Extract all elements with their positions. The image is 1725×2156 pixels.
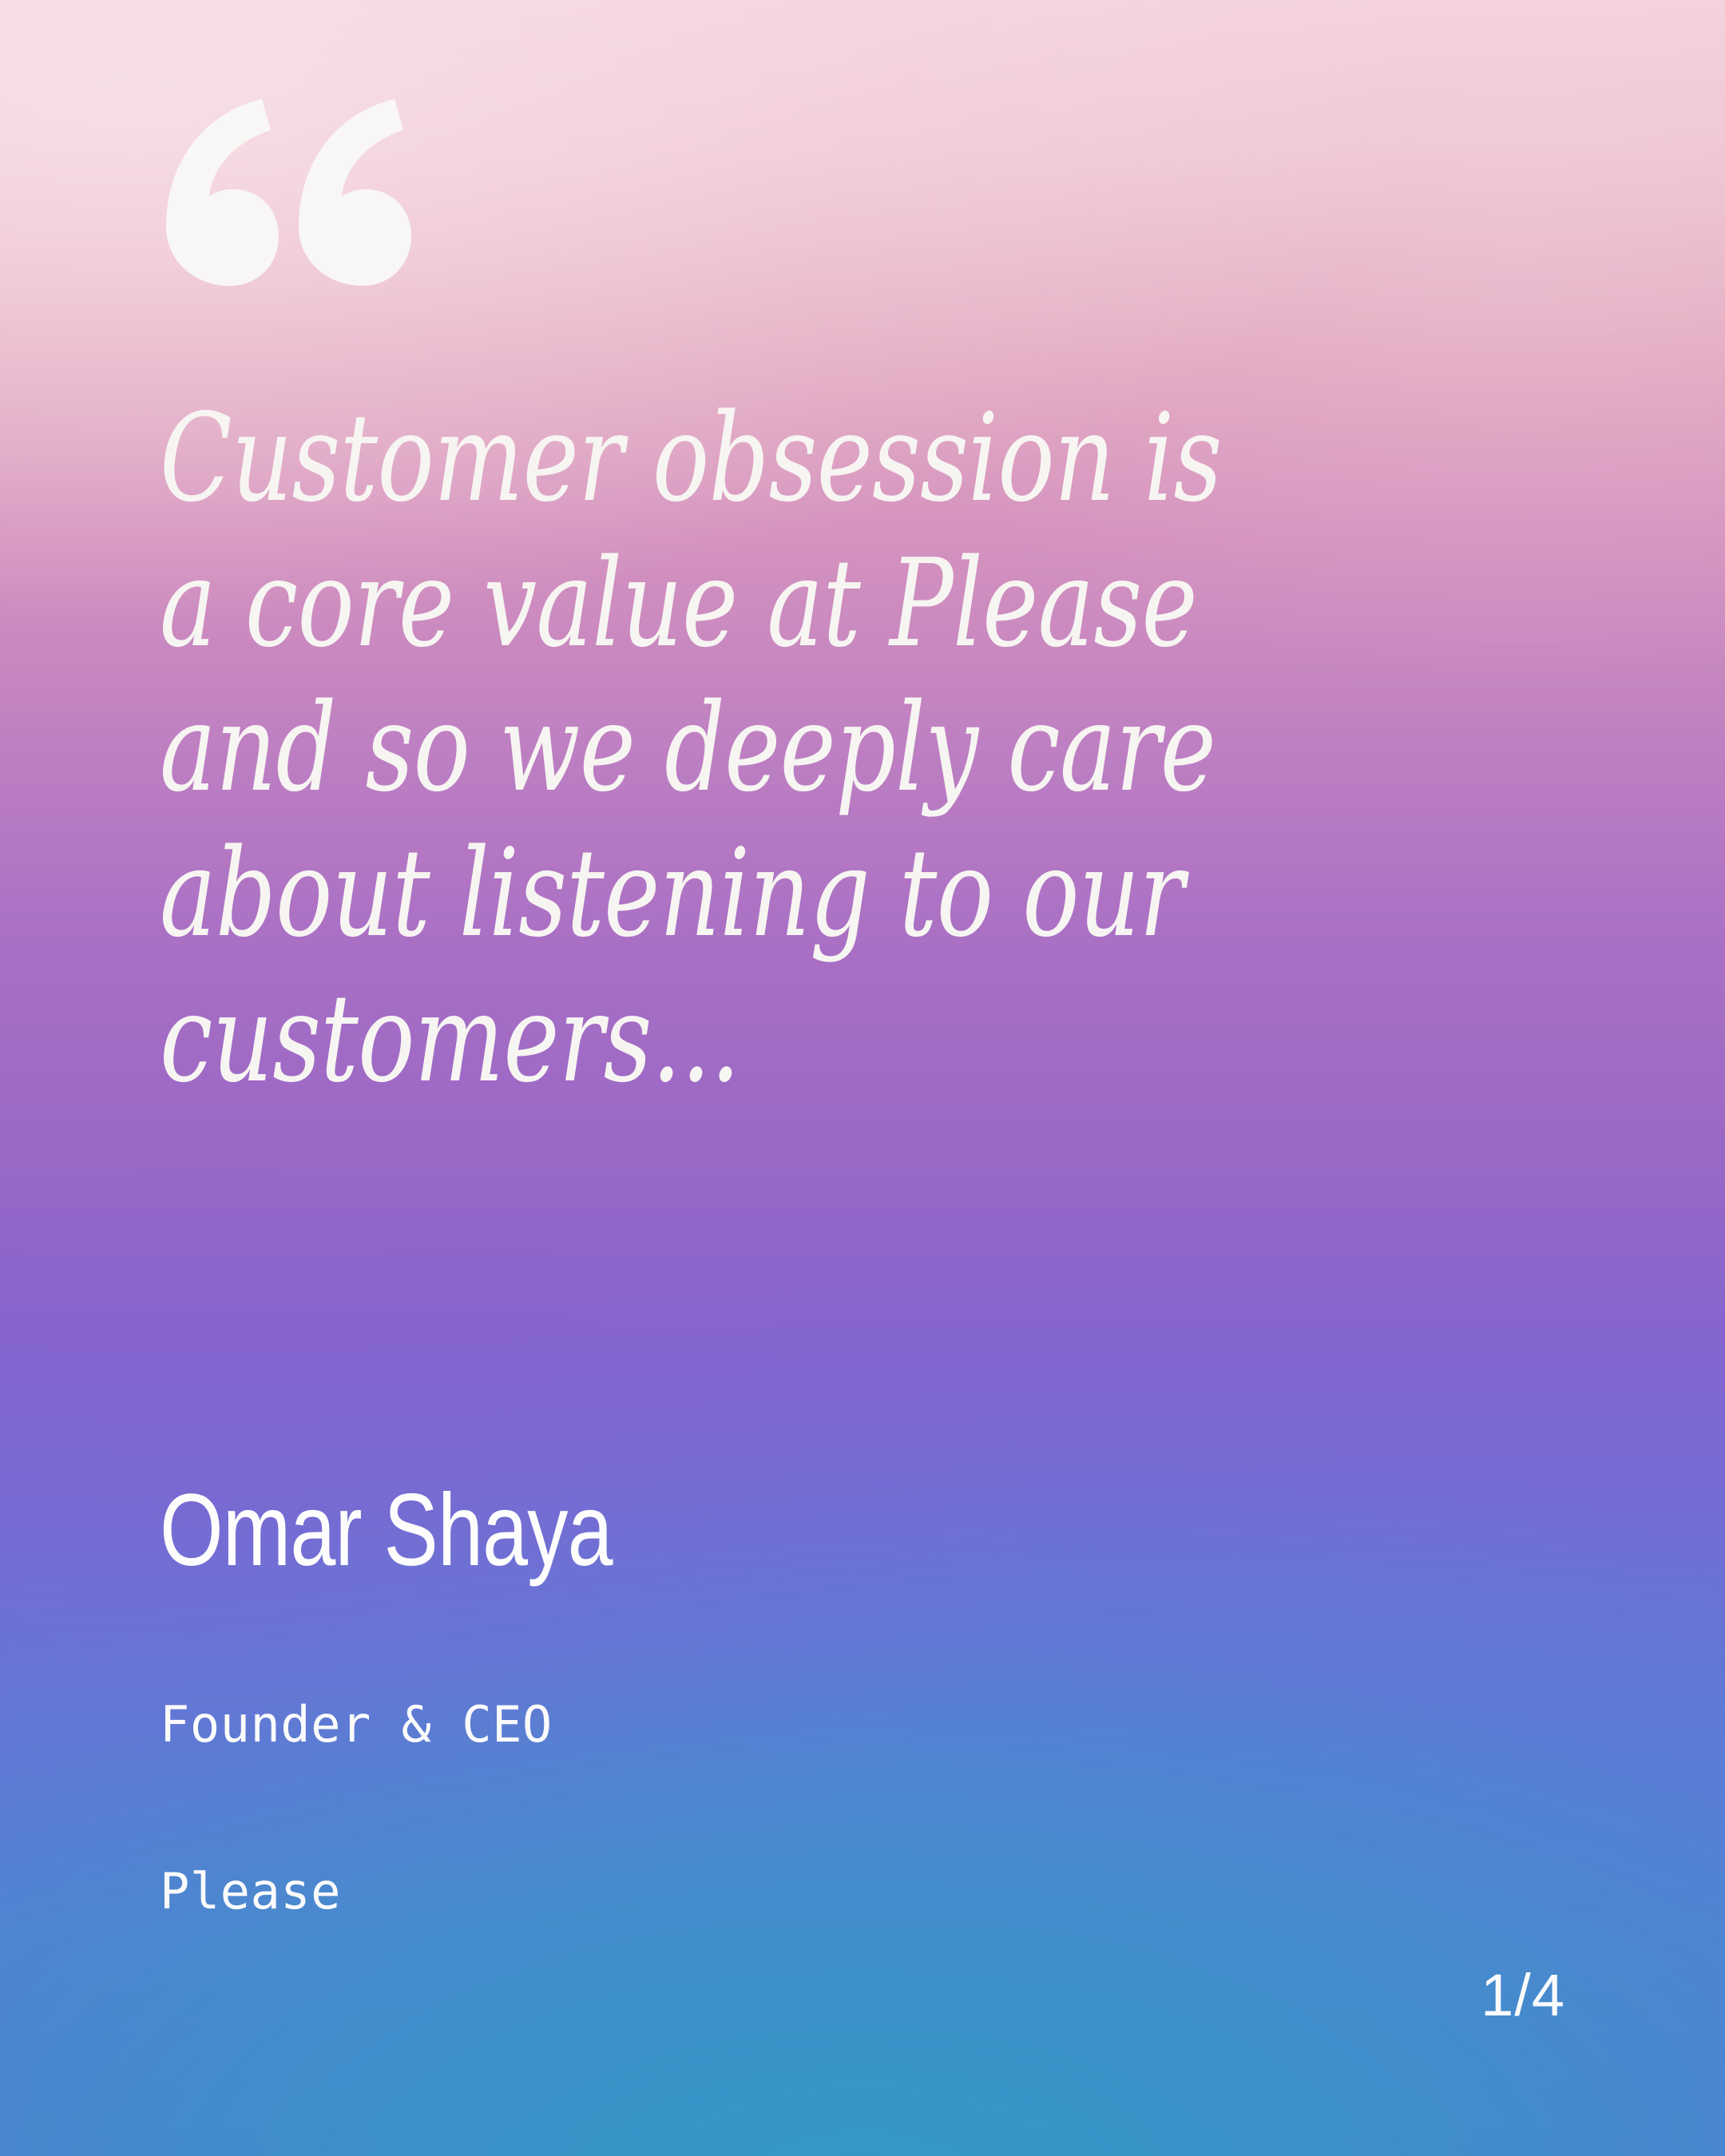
attribution-meta: Founder & CEO Please bbox=[160, 1587, 553, 2031]
author-company: Please bbox=[160, 1864, 553, 1919]
attribution-block: Omar Shaya Founder & CEO Please 1/4 bbox=[160, 1480, 1565, 2031]
quote-card: Customer obsession is a core value at Pl… bbox=[0, 0, 1725, 2156]
page-indicator: 1/4 bbox=[1481, 1966, 1565, 2030]
quote-line: a core value at Please bbox=[160, 553, 1256, 655]
quote-line: customers... bbox=[160, 988, 1256, 1090]
quote-text: Customer obsession is a core value at Pl… bbox=[160, 407, 1565, 1089]
attribution-meta-row: Founder & CEO Please 1/4 bbox=[160, 1587, 1565, 2031]
author-name: Omar Shaya bbox=[160, 1480, 1284, 1582]
quote-line: Customer obsession is bbox=[160, 407, 1256, 509]
card-content: Customer obsession is a core value at Pl… bbox=[0, 0, 1725, 2156]
quote-line: about listening to our bbox=[160, 842, 1256, 945]
double-quote-open-icon bbox=[157, 94, 412, 294]
quote-line: and so we deeply care bbox=[160, 697, 1256, 799]
author-role: Founder & CEO bbox=[160, 1697, 553, 1752]
